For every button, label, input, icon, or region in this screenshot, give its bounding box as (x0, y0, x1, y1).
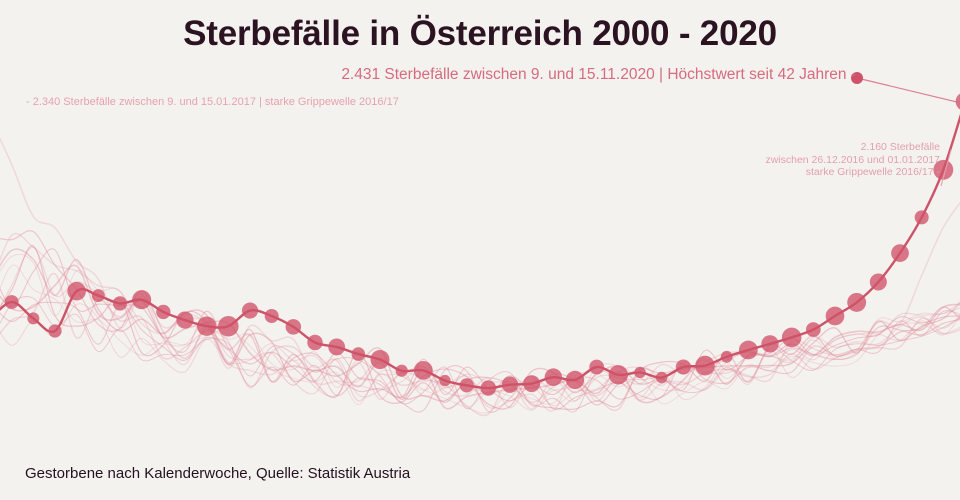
data-point (113, 296, 127, 310)
data-point (695, 356, 715, 376)
data-point (27, 312, 39, 324)
data-point (634, 367, 645, 378)
data-point (48, 324, 61, 337)
data-point (396, 365, 408, 377)
data-point (589, 360, 604, 375)
data-point (782, 328, 802, 348)
data-point (328, 339, 345, 356)
data-point (847, 293, 866, 312)
chart-container: Sterbefälle in Österreich 2000 - 2020 2.… (0, 0, 960, 500)
data-point (891, 244, 909, 262)
annotation-right-line-2: zwischen 26.12.2016 und 01.01.2017 (700, 154, 940, 167)
page-title: Sterbefälle in Österreich 2000 - 2020 (0, 14, 960, 54)
data-point (481, 380, 496, 395)
chart-subtitle-2020-peak: 2.431 Sterbefälle zwischen 9. und 15.11.… (0, 66, 856, 84)
data-point (92, 289, 105, 302)
data-point (414, 361, 433, 380)
data-point (156, 305, 170, 319)
data-point (67, 282, 86, 301)
data-point (132, 290, 151, 309)
data-point (242, 302, 258, 318)
data-point (352, 347, 366, 361)
data-point (566, 371, 584, 389)
data-point (656, 372, 668, 384)
data-point (676, 359, 691, 374)
data-point (5, 295, 19, 309)
annotation-right-line-1: 2.160 Sterbefälle (700, 141, 940, 154)
data-point (307, 335, 322, 350)
data-point (739, 341, 758, 360)
data-point (761, 335, 778, 352)
data-point (870, 273, 887, 290)
data-point (439, 375, 450, 386)
data-point (609, 365, 628, 384)
data-point (197, 316, 216, 335)
data-point (915, 210, 929, 224)
data-point (265, 309, 279, 323)
data-point (218, 316, 239, 337)
data-point (176, 311, 193, 328)
data-point (523, 375, 540, 392)
data-point (370, 350, 389, 369)
data-point (826, 307, 845, 326)
data-point (460, 378, 474, 392)
data-point (721, 351, 733, 363)
chart-source-caption: Gestorbene nach Kalenderwoche, Quelle: S… (25, 465, 410, 482)
annotation-2017-flu-wave: - 2.340 Sterbefälle zwischen 9. und 15.0… (26, 96, 399, 108)
data-point (502, 376, 518, 392)
annotation-right-line-3: starke Grippewelle 2016/17 - (700, 166, 940, 179)
data-point (545, 368, 563, 386)
data-point (806, 322, 821, 337)
data-point (286, 319, 302, 335)
annotation-2016-2017-flu-wave: 2.160 Sterbefälle zwischen 26.12.2016 un… (700, 141, 940, 179)
leader-line-2020-peak (857, 78, 960, 103)
